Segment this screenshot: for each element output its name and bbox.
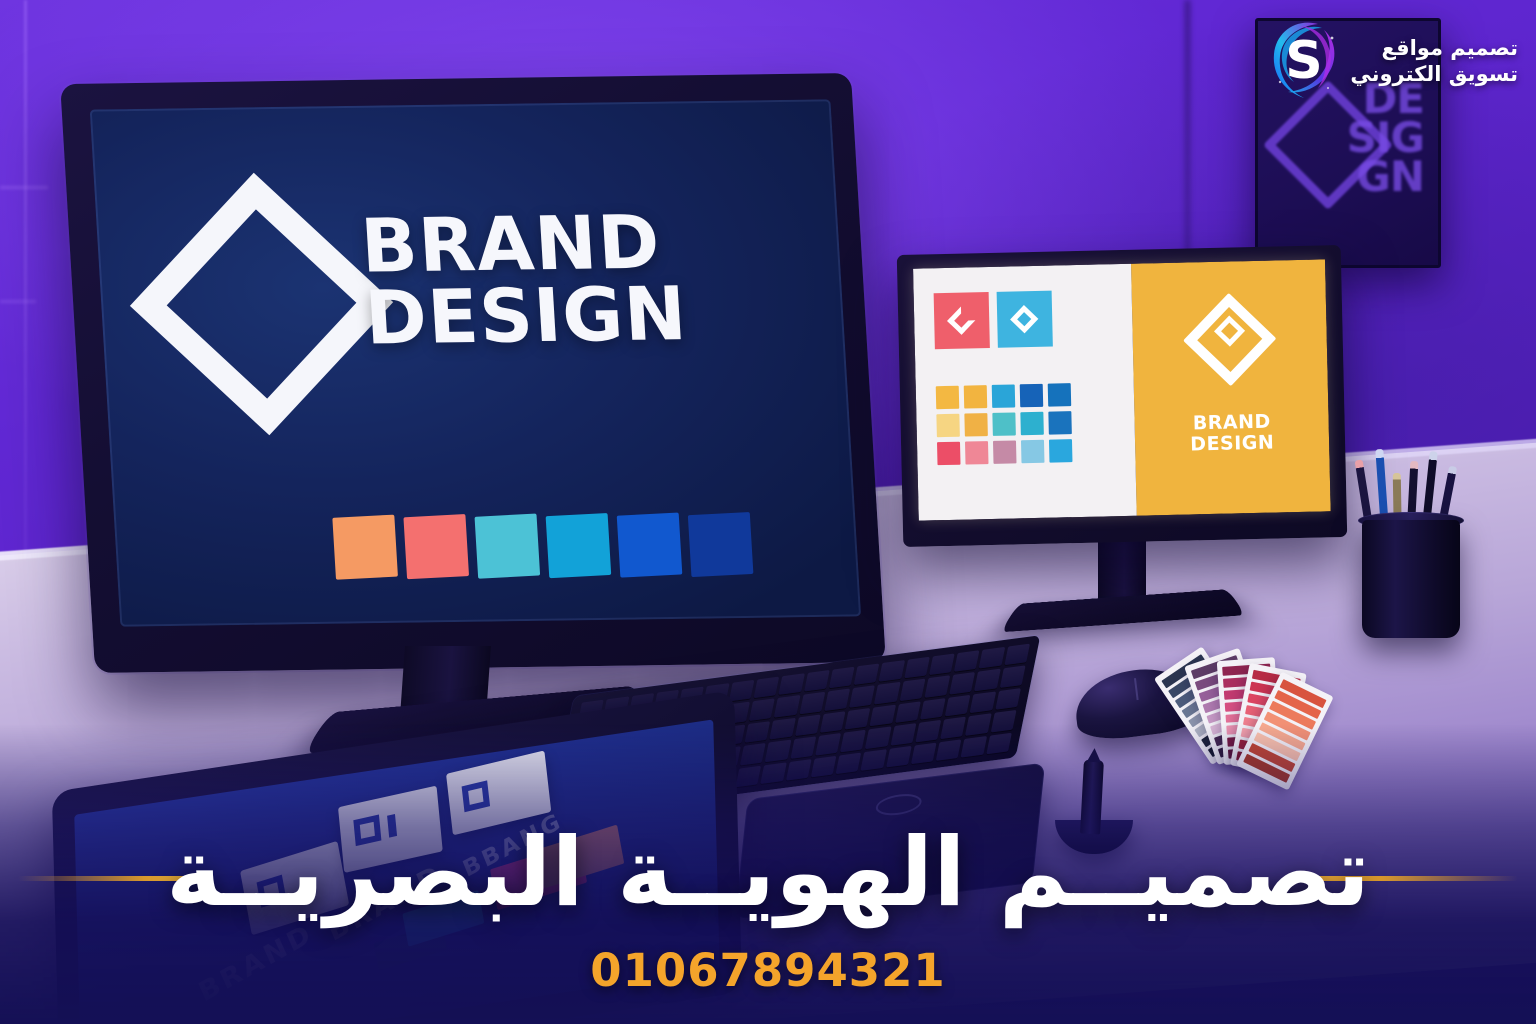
brand-title-line-2: DESIGN: [363, 279, 689, 355]
color-grid-cell: [936, 414, 960, 438]
diamond-logo-icon: [129, 172, 392, 435]
color-grid-cell: [937, 442, 961, 466]
swirl-logo-letter: S: [1286, 31, 1323, 91]
monitor-bezel: BRAND DESIGN: [60, 73, 886, 673]
poster-line-3: GN: [1338, 157, 1424, 196]
diamond-icon: [1010, 305, 1038, 333]
color-grid: [935, 384, 1072, 466]
color-grid-cell: [1019, 384, 1043, 408]
keyboard-key[interactable]: [979, 647, 1005, 669]
keyboard-key[interactable]: [779, 673, 805, 695]
main-monitor: BRAND DESIGN: [60, 73, 886, 673]
color-swatch-row: [334, 512, 754, 596]
keyboard-key[interactable]: [799, 692, 825, 714]
palette-sheet: [913, 264, 1137, 521]
brand-badge[interactable]: تصميم مواقع تسويق الكتروني: [1266, 16, 1518, 108]
keyboard-key[interactable]: [753, 677, 779, 699]
color-grid-cell: [992, 413, 1016, 437]
brand-badge-text: تصميم مواقع تسويق الكتروني: [1350, 36, 1518, 87]
keyboard-key[interactable]: [849, 686, 875, 708]
brand-panel-line-2: DESIGN: [1190, 432, 1274, 454]
keyboard-key[interactable]: [995, 688, 1021, 710]
keyboard-key[interactable]: [929, 654, 955, 676]
keyboard-key[interactable]: [749, 699, 775, 721]
wall-seam: [0, 300, 36, 303]
keyboard-key[interactable]: [854, 663, 880, 685]
brand-panel-line-1: BRAND: [1190, 412, 1274, 434]
keyboard-key[interactable]: [804, 670, 830, 692]
color-grid-cell: [1049, 440, 1073, 464]
diamond-icon: [947, 307, 975, 335]
keyboard-key[interactable]: [974, 669, 1000, 691]
second-monitor-bezel: BRAND DESIGN: [897, 245, 1348, 547]
brand-badge-line-2: تسويق الكتروني: [1350, 62, 1518, 88]
phone-number: 01067894321: [0, 944, 1536, 997]
keyboard-key[interactable]: [920, 698, 946, 720]
color-grid-cell: [964, 414, 988, 438]
color-grid-cell: [1021, 440, 1045, 464]
swirl-logo-icon: S: [1266, 16, 1342, 108]
brand-panel-title: BRAND DESIGN: [1190, 412, 1275, 455]
page-title: تصميــم الهويــة البصريــة: [0, 826, 1536, 921]
color-grid-cell: [935, 386, 959, 410]
second-monitor-screen: BRAND DESIGN: [913, 259, 1331, 520]
color-grid-cell: [991, 385, 1015, 409]
keyboard-key[interactable]: [895, 701, 921, 723]
logo-tile: [996, 291, 1052, 348]
keyboard-key[interactable]: [949, 672, 975, 694]
color-swatch: [404, 514, 470, 579]
color-grid-cell: [1047, 384, 1071, 408]
logo-tile-row: [933, 291, 1052, 350]
keyboard-key[interactable]: [1004, 644, 1030, 666]
keyboard-key[interactable]: [899, 679, 925, 701]
keyboard-key[interactable]: [774, 695, 800, 717]
color-swatch: [546, 513, 612, 578]
color-grid-cell: [1020, 412, 1044, 436]
pen-cup: [1362, 520, 1460, 638]
keyboard-key[interactable]: [1000, 666, 1026, 688]
second-monitor: BRAND DESIGN: [897, 245, 1348, 547]
keyboard-key[interactable]: [970, 691, 996, 713]
brand-badge-line-1: تصميم مواقع: [1350, 36, 1518, 62]
color-grid-cell: [963, 386, 987, 410]
color-swatch: [688, 512, 754, 577]
main-monitor-screen: BRAND DESIGN: [90, 99, 861, 626]
poster-canvas: DE SIG GN BRAND DESIGN: [0, 0, 1536, 1024]
diamond-logo-icon: [1183, 293, 1276, 386]
brand-panel: BRAND DESIGN: [1131, 259, 1330, 515]
color-grid-cell: [1048, 412, 1072, 436]
keyboard-key[interactable]: [945, 695, 971, 717]
keyboard-key[interactable]: [874, 682, 900, 704]
keyboard-key[interactable]: [954, 650, 980, 672]
keyboard-key[interactable]: [924, 676, 950, 698]
keyboard-key[interactable]: [904, 657, 930, 679]
keyboard-key[interactable]: [829, 667, 855, 689]
second-monitor-stand-neck: [1098, 536, 1146, 602]
color-swatch: [333, 514, 399, 579]
brand-title: BRAND DESIGN: [359, 207, 689, 355]
wall-seam: [0, 186, 48, 189]
keyboard-key[interactable]: [728, 680, 754, 702]
color-grid-cell: [965, 441, 989, 465]
color-grid-cell: [993, 441, 1017, 465]
keyboard-key[interactable]: [824, 689, 850, 711]
color-swatch: [475, 513, 541, 578]
logo-tile: [933, 292, 989, 349]
keyboard-key[interactable]: [879, 660, 905, 682]
color-swatch: [617, 512, 683, 577]
